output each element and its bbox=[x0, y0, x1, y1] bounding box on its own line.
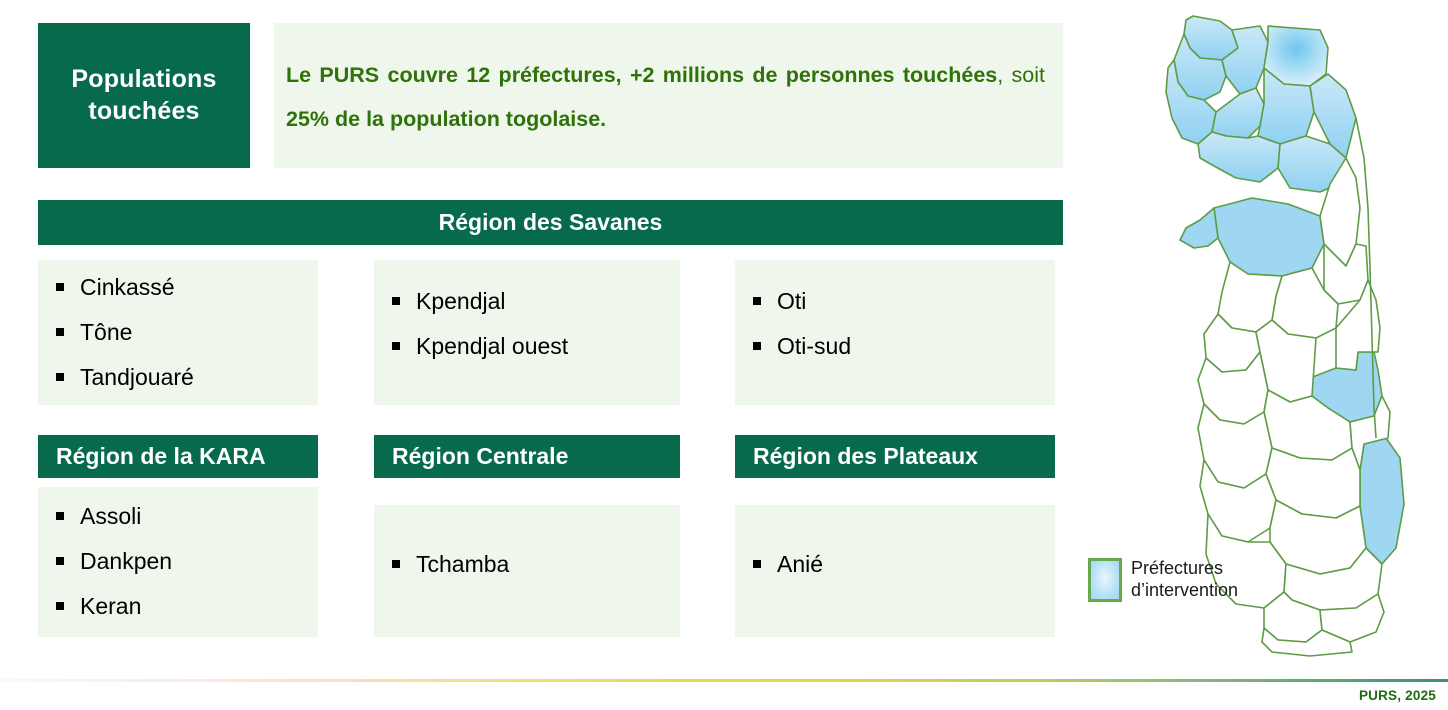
intro-text: Le PURS couvre 12 préfectures, +2 millio… bbox=[286, 53, 1045, 141]
title-line-2: touchées bbox=[88, 97, 199, 125]
list-item: Keran bbox=[56, 595, 318, 618]
list-item: Kpendjal bbox=[392, 290, 680, 313]
prefecture-label: Anié bbox=[777, 553, 823, 576]
prefecture-panel-plateaux: Anié bbox=[735, 505, 1055, 637]
region-header-kara: Région de la KARA bbox=[38, 435, 318, 478]
square-bullet-icon bbox=[56, 557, 64, 565]
list-item: Dankpen bbox=[56, 550, 318, 573]
title-text: Populationstouchées bbox=[71, 64, 216, 127]
list-item: Anié bbox=[753, 553, 1055, 576]
intro-bold-tail: 25% de la population togolaise. bbox=[286, 107, 606, 131]
intro-panel: Le PURS couvre 12 préfectures, +2 millio… bbox=[274, 23, 1063, 168]
square-bullet-icon bbox=[753, 342, 761, 350]
prefecture-list: Assoli Dankpen Keran bbox=[56, 505, 318, 618]
list-item: Tchamba bbox=[392, 553, 680, 576]
legend-label: Préfectures d’intervention bbox=[1131, 558, 1238, 602]
list-item: Oti bbox=[753, 290, 1055, 313]
prefecture-list: Kpendjal Kpendjal ouest bbox=[392, 290, 680, 358]
square-bullet-icon bbox=[56, 602, 64, 610]
prefecture-panel-savanes-col1: Cinkassé Tône Tandjouaré bbox=[38, 260, 318, 405]
list-item: Assoli bbox=[56, 505, 318, 528]
square-bullet-icon bbox=[753, 297, 761, 305]
list-item: Kpendjal ouest bbox=[392, 335, 680, 358]
prefecture-list: Cinkassé Tône Tandjouaré bbox=[56, 276, 318, 389]
region-header-plateaux-label: Région des Plateaux bbox=[753, 443, 978, 470]
prefecture-label: Tchamba bbox=[416, 553, 509, 576]
prefecture-list: Tchamba bbox=[392, 553, 680, 576]
list-item: Tône bbox=[56, 321, 318, 344]
square-bullet-icon bbox=[56, 283, 64, 291]
square-bullet-icon bbox=[753, 560, 761, 568]
intro-bold-lead: Le PURS couvre 12 préfectures, +2 millio… bbox=[286, 63, 997, 87]
region-header-kara-label: Région de la KARA bbox=[56, 443, 266, 470]
prefecture-list: Oti Oti-sud bbox=[753, 290, 1055, 358]
square-bullet-icon bbox=[392, 297, 400, 305]
region-header-savanes: Région des Savanes bbox=[38, 200, 1063, 245]
prefecture-label: Kpendjal bbox=[416, 290, 506, 313]
prefecture-label: Kpendjal ouest bbox=[416, 335, 568, 358]
prefecture-panel-savanes-col2: Kpendjal Kpendjal ouest bbox=[374, 260, 680, 405]
prefecture-label: Dankpen bbox=[80, 550, 172, 573]
list-item: Oti-sud bbox=[753, 335, 1055, 358]
map-legend: Préfectures d’intervention bbox=[1088, 558, 1238, 602]
region-header-centrale-label: Région Centrale bbox=[392, 443, 568, 470]
prefecture-panel-savanes-col3: Oti Oti-sud bbox=[735, 260, 1055, 405]
populations-touchees-title-block: Populationstouchées bbox=[38, 23, 250, 168]
prefecture-list: Anié bbox=[753, 553, 1055, 576]
prefecture-label: Assoli bbox=[80, 505, 141, 528]
list-item: Tandjouaré bbox=[56, 366, 318, 389]
prefecture-label: Oti-sud bbox=[777, 335, 851, 358]
list-item: Cinkassé bbox=[56, 276, 318, 299]
region-header-savanes-label: Région des Savanes bbox=[439, 209, 663, 236]
title-line-1: Populations bbox=[71, 65, 216, 93]
region-header-centrale: Région Centrale bbox=[374, 435, 680, 478]
prefecture-label: Keran bbox=[80, 595, 141, 618]
square-bullet-icon bbox=[56, 373, 64, 381]
prefecture-label: Tône bbox=[80, 321, 132, 344]
square-bullet-icon bbox=[56, 328, 64, 336]
prefecture-label: Cinkassé bbox=[80, 276, 175, 299]
square-bullet-icon bbox=[392, 342, 400, 350]
prefecture-panel-centrale: Tchamba bbox=[374, 505, 680, 637]
square-bullet-icon bbox=[392, 560, 400, 568]
legend-swatch-icon bbox=[1088, 558, 1122, 602]
footer-source-note: PURS, 2025 bbox=[1359, 688, 1436, 703]
prefecture-panel-kara: Assoli Dankpen Keran bbox=[38, 487, 318, 637]
region-header-plateaux: Région des Plateaux bbox=[735, 435, 1055, 478]
prefecture-label: Oti bbox=[777, 290, 806, 313]
square-bullet-icon bbox=[56, 512, 64, 520]
footer-divider bbox=[0, 679, 1448, 682]
prefecture-label: Tandjouaré bbox=[80, 366, 194, 389]
intro-regular-mid: , soit bbox=[997, 63, 1045, 87]
